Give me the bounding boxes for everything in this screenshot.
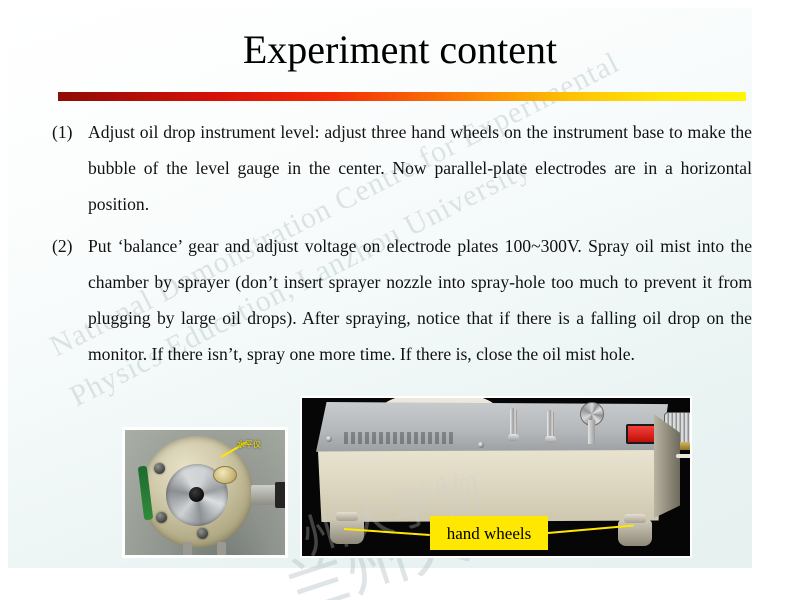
title-gradient-rule [58, 92, 746, 101]
cable [676, 454, 692, 458]
power-switch [626, 424, 656, 444]
body-text: (1) Adjust oil drop instrument level: ad… [52, 114, 752, 372]
hand-wheels-callout-label: hand wheels [430, 516, 548, 550]
level-gauge-callout-label: 水平仪 [237, 439, 261, 450]
level-gauge [213, 466, 237, 484]
microscope-eyepiece [275, 482, 288, 508]
terminal-post-base [545, 436, 556, 443]
list-item-text: Adjust oil drop instrument level: adjust… [88, 114, 752, 222]
hand-wheel-shaft [624, 514, 646, 523]
terminal-post-base [508, 434, 519, 441]
figure-instrument-base: 州大学物 hand wheels [300, 396, 692, 558]
hand-wheel [618, 520, 652, 546]
list-item-text: Put ‘balance’ gear and adjust voltage on… [88, 228, 752, 372]
screw [156, 512, 167, 523]
deck-screw [478, 442, 484, 448]
figure-instrument-top-view: 水平仪 [122, 427, 288, 558]
instrument-top-deck [316, 402, 668, 454]
screw [197, 528, 208, 539]
page-title: Experiment content [0, 26, 800, 74]
instrument-foot [217, 542, 226, 556]
list-item: (1) Adjust oil drop instrument level: ad… [52, 114, 752, 222]
list-item-marker: (1) [52, 114, 86, 150]
hand-wheel-shaft [336, 512, 358, 521]
deck-screw [326, 436, 332, 442]
slide: National Demonstration Centre for Experi… [0, 0, 800, 600]
deck-printed-legend [344, 432, 454, 444]
instrument-foot [183, 542, 192, 556]
screw [154, 463, 165, 474]
list-item: (2) Put ‘balance’ gear and adjust voltag… [52, 228, 752, 372]
list-item-marker: (2) [52, 228, 86, 264]
hub-center-hole [189, 487, 204, 502]
knob-stem [588, 420, 595, 444]
